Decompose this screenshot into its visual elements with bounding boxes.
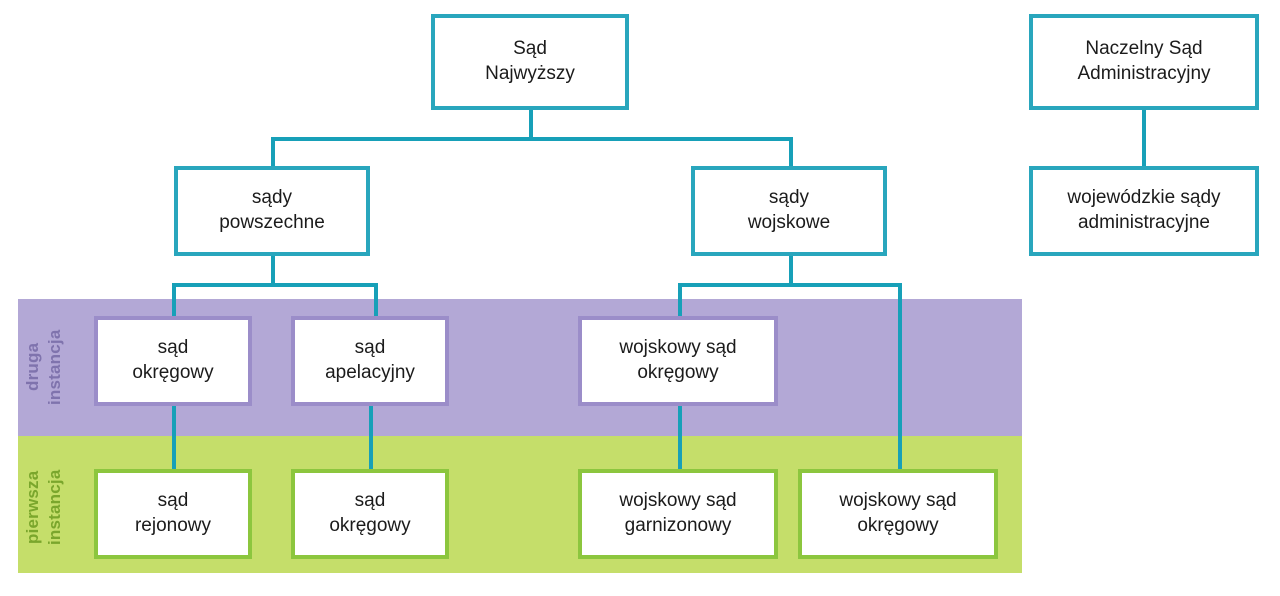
connector-to-military-regional-court-first bbox=[898, 283, 902, 470]
node-common-courts[interactable]: sądy powszechne bbox=[174, 166, 370, 256]
node-supreme-court[interactable]: Sąd Najwyższy bbox=[431, 14, 629, 110]
connector-regional-to-district-court bbox=[172, 405, 176, 470]
node-appellate-court[interactable]: sąd apelacyjny bbox=[291, 316, 449, 406]
node-military-regional-court-first-instance[interactable]: wojskowy sąd okręgowy bbox=[798, 469, 998, 559]
node-military-regional-court-second-instance[interactable]: wojskowy sąd okręgowy bbox=[578, 316, 778, 406]
band-label-second-instance: druga instancja bbox=[22, 306, 66, 428]
connector-to-military-courts bbox=[789, 137, 793, 167]
connector-supreme-bus bbox=[271, 137, 793, 141]
node-regional-court-first-instance[interactable]: sąd okręgowy bbox=[291, 469, 449, 559]
connector-appellate-to-regional-court bbox=[369, 405, 373, 470]
court-structure-diagram: druga instancja pierwsza instancja Sąd N… bbox=[0, 0, 1280, 596]
connector-nsa-to-wsa bbox=[1142, 108, 1146, 168]
connector-supreme-stem bbox=[529, 108, 533, 139]
node-military-courts[interactable]: sądy wojskowe bbox=[691, 166, 887, 256]
node-supreme-administrative-court[interactable]: Naczelny Sąd Administracyjny bbox=[1029, 14, 1259, 110]
connector-to-regional-court-second bbox=[172, 283, 176, 317]
connector-to-common-courts bbox=[271, 137, 275, 167]
connector-to-appellate-court bbox=[374, 283, 378, 317]
node-district-court[interactable]: sąd rejonowy bbox=[94, 469, 252, 559]
node-regional-court-second-instance[interactable]: sąd okręgowy bbox=[94, 316, 252, 406]
connector-common-bus bbox=[172, 283, 378, 287]
connector-common-stem bbox=[271, 254, 275, 286]
connector-to-military-regional-court-second bbox=[678, 283, 682, 317]
connector-military-bus bbox=[678, 283, 902, 287]
connector-military-regional-to-garrison-court bbox=[678, 405, 682, 470]
connector-military-stem bbox=[789, 254, 793, 286]
band-label-first-instance: pierwsza instancja bbox=[22, 446, 66, 568]
node-voivodeship-administrative-courts[interactable]: wojewódzkie sądy administracyjne bbox=[1029, 166, 1259, 256]
node-military-garrison-court[interactable]: wojskowy sąd garnizonowy bbox=[578, 469, 778, 559]
